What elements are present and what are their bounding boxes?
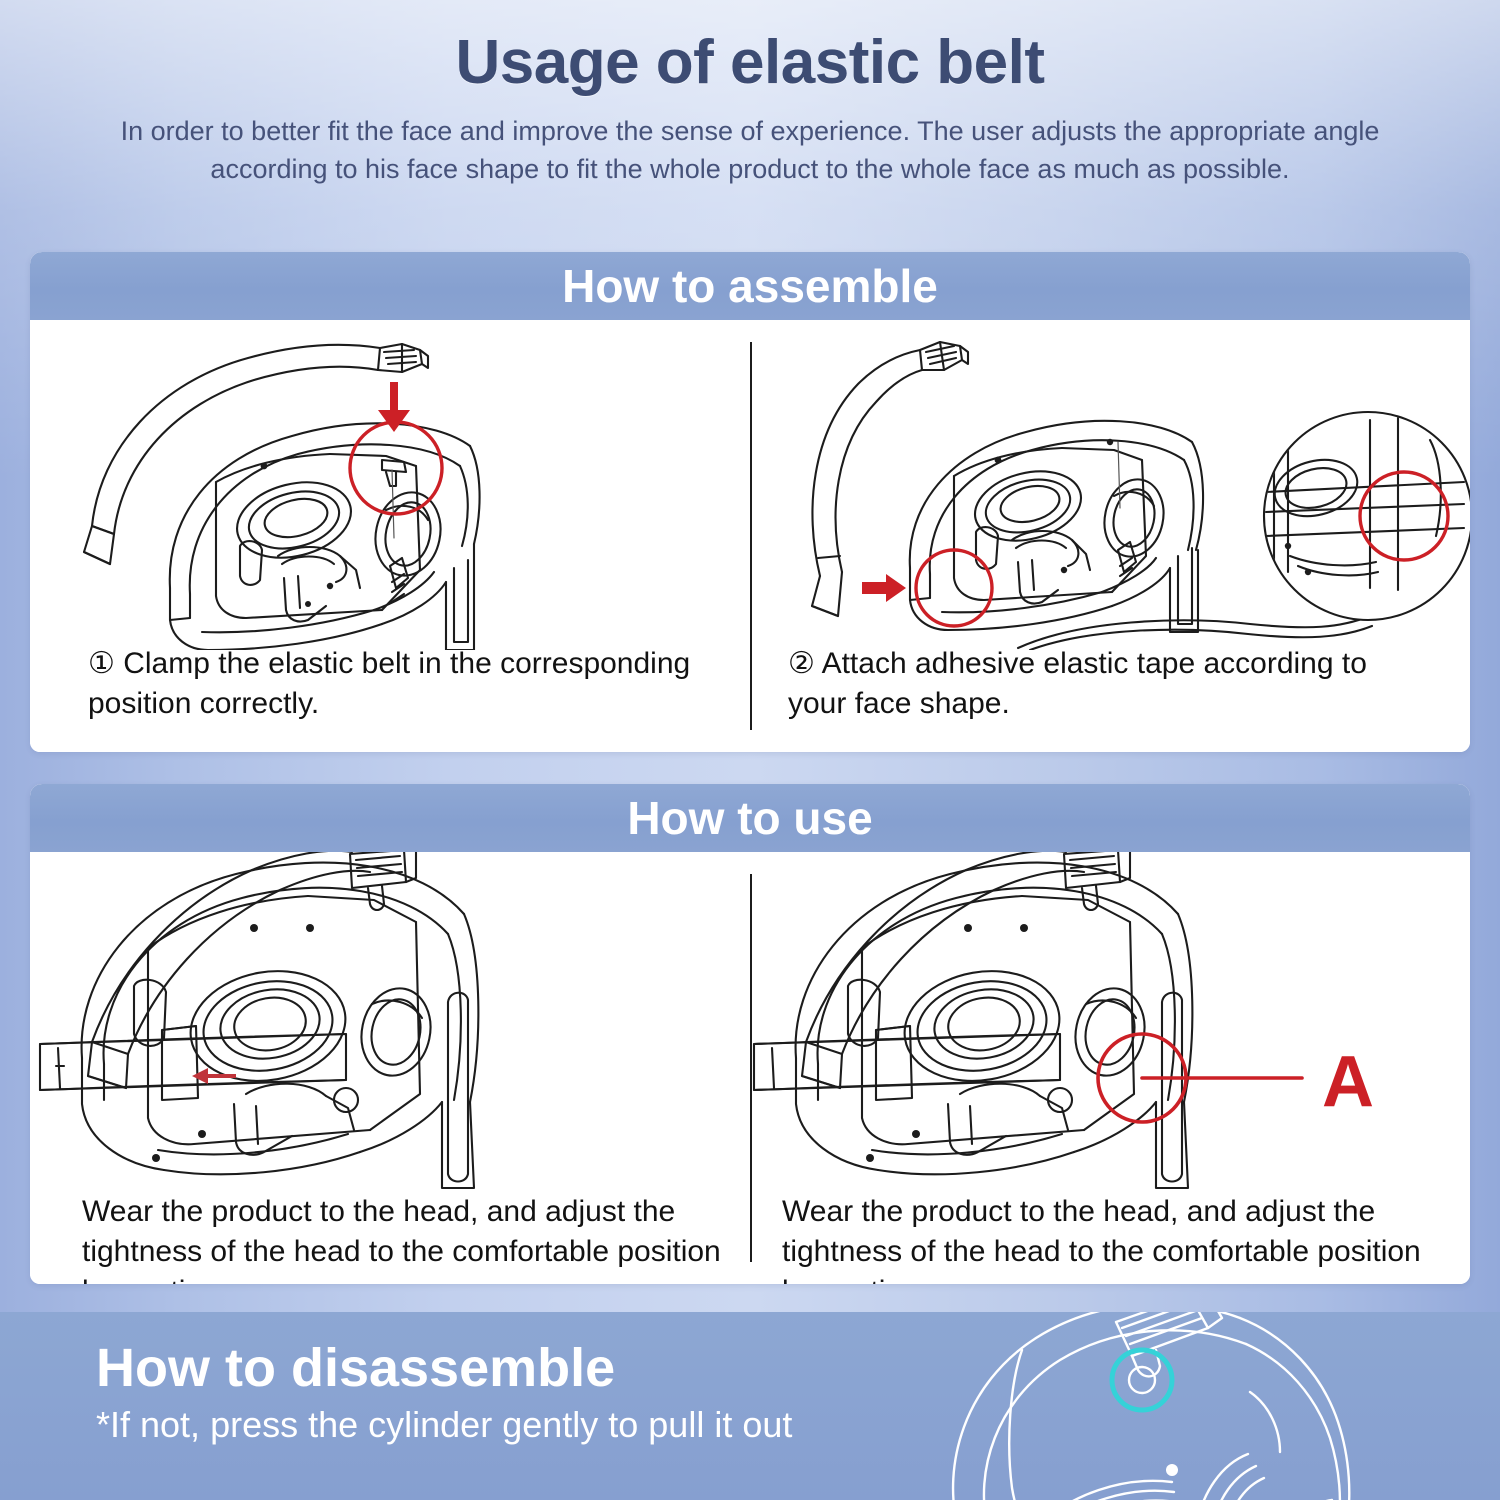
headset-lens-right [1068,982,1153,1082]
callout-a-annotation: A [1098,1034,1374,1122]
callout-label-a: A [1322,1042,1374,1122]
cyan-circle-highlight [1112,1350,1172,1410]
headset-lower-contours-white [1036,1392,1332,1500]
strap-pass-through [162,1026,198,1100]
section-card-use: How to use [30,784,1470,1284]
section-card-assemble: How to assemble [30,252,1470,752]
panel-assemble-step-1: ① Clamp the elastic belt in the correspo… [30,320,750,752]
panel-caption: ② Attach adhesive elastic tape according… [788,644,1388,724]
panel-caption: Wear the product to the head, and adjust… [82,1192,722,1284]
panel-assemble-step-2: ② Attach adhesive elastic tape according… [750,320,1470,752]
belt-buckle-clip [1064,852,1130,910]
page-subtitle: In order to better fit the face and impr… [105,112,1395,189]
bottom-text-block: How to disassemble *If not, press the cy… [96,1340,996,1444]
figure-clamp-elastic-belt [30,320,750,650]
bottom-band-disassemble: How to disassemble *If not, press the cy… [0,1312,1500,1500]
panel-use-step-1: Wear the product to the head, and adjust… [30,852,750,1284]
section-header-title: How to assemble [562,263,938,309]
elastic-belt-strip [812,350,922,616]
headset-side-pad [446,544,474,650]
page-header: Usage of elastic belt In order to better… [0,0,1500,189]
red-circle-highlight [350,422,442,514]
belt-clip-connector [378,344,428,372]
headset-nose-bridge [948,1084,1072,1155]
figure-wear-product-adjust [30,852,750,1192]
page-title: Usage of elastic belt [90,32,1410,94]
belt-buckle-clip [350,852,416,910]
section-header-use: How to use [30,784,1470,852]
bottom-note: *If not, press the cylinder gently to pu… [96,1405,996,1445]
section-body-assemble: ① Clamp the elastic belt in the correspo… [30,320,1470,752]
headset-lens-right [354,982,439,1082]
bottom-title: How to disassemble [96,1340,996,1397]
headset-nose-bridge [1012,531,1090,604]
panel-caption: ① Clamp the elastic belt in the correspo… [88,644,708,724]
headset-screw-dots [152,924,314,1162]
alignment-guide-line [392,470,394,538]
headset-side-buttons [240,541,408,602]
figure-attach-adhesive-tape [750,320,1470,650]
figure-wear-product-callout-a: A [750,852,1470,1192]
headset-attachment-notch [382,460,406,486]
panel-caption: Wear the product to the head, and adjust… [782,1192,1422,1284]
headset-strap-loop-white [1129,1367,1155,1393]
section-header-assemble: How to assemble [30,252,1470,320]
headset-facial-interface [148,896,420,1144]
headset-top-dot-white [1166,1464,1178,1476]
figure-disassemble-headset [940,1312,1500,1500]
headset-nose-bridge [234,1084,358,1155]
section-header-title: How to use [627,795,872,841]
belt-clip-connector [920,342,968,370]
section-body-use: Wear the product to the head, and adjust… [30,852,1470,1284]
headset-side-pad [442,993,474,1188]
headset-facial-interface [862,896,1134,1144]
headset-lens-left [896,959,1068,1092]
panel-use-step-2: A Wear the product to the head, and adju… [750,852,1470,1284]
magnified-detail-circle [1264,412,1470,620]
headset-screw-dots [866,924,1028,1162]
strap-pass-through [876,1026,912,1100]
headset-lens-right [1098,474,1171,562]
headset-lens-right [368,486,448,581]
right-arrow [862,574,906,602]
headset-screw-dots [995,439,1114,573]
headset-side-buttons [976,527,1136,576]
